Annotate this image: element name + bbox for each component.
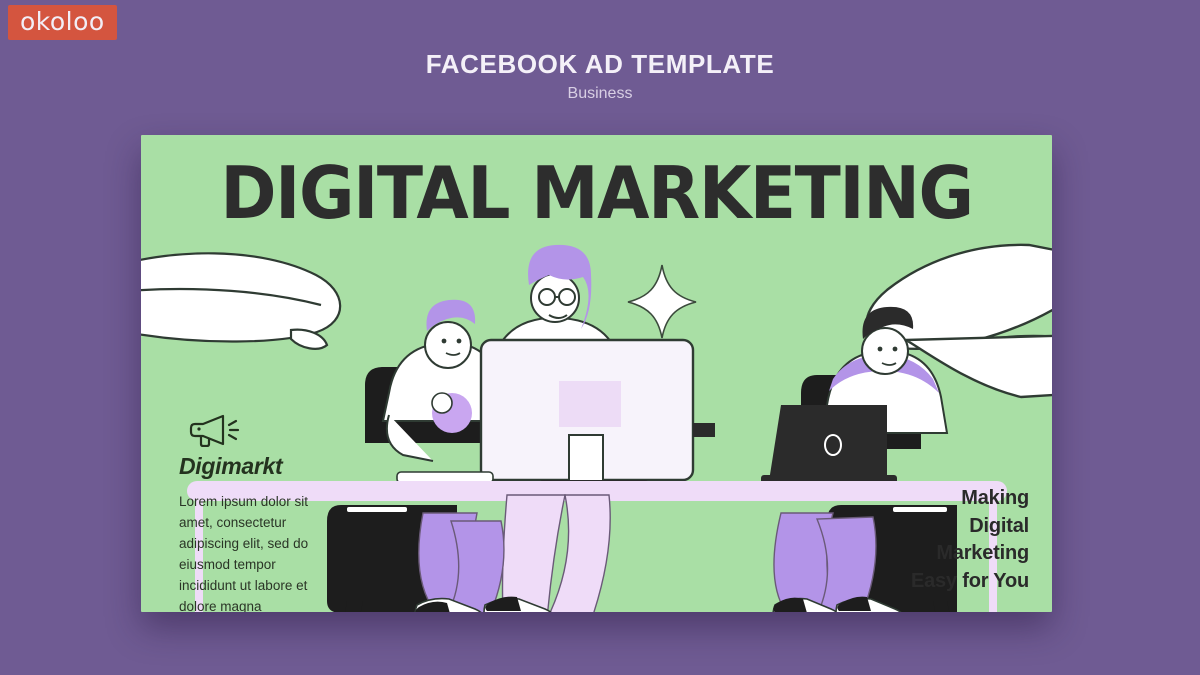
brand-logo-text: okoloo: [20, 9, 105, 34]
page-subtitle: Business: [0, 85, 1200, 103]
tagline: Making Digital Marketing Easy for You: [799, 485, 1029, 595]
tagline-line-2: Digital: [799, 513, 1029, 541]
tagline-line-1: Making: [799, 485, 1029, 513]
brand-block: Digimarkt Lorem ipsum dolor sit amet, co…: [179, 413, 339, 612]
ad-headline: DIGITAL MARKETING: [168, 157, 1024, 229]
page-header: FACEBOOK AD TEMPLATE Business: [0, 50, 1200, 102]
ad-card[interactable]: DIGITAL MARKETING Digimarkt Lorem ipsum …: [141, 135, 1052, 612]
brand-body-text: Lorem ipsum dolor sit amet, consectetur …: [179, 492, 324, 612]
hand-left-icon: [141, 253, 340, 348]
poster-canvas: okoloo FACEBOOK AD TEMPLATE Business: [0, 0, 1200, 675]
tagline-line-3: Marketing: [799, 540, 1029, 568]
brand-logo[interactable]: okoloo: [8, 5, 117, 40]
page-title: FACEBOOK AD TEMPLATE: [0, 50, 1200, 79]
brand-name: Digimarkt: [179, 455, 339, 478]
sparkle-icon: [628, 265, 696, 338]
tagline-line-4: Easy for You: [799, 568, 1029, 596]
megaphone-icon: [189, 413, 241, 447]
